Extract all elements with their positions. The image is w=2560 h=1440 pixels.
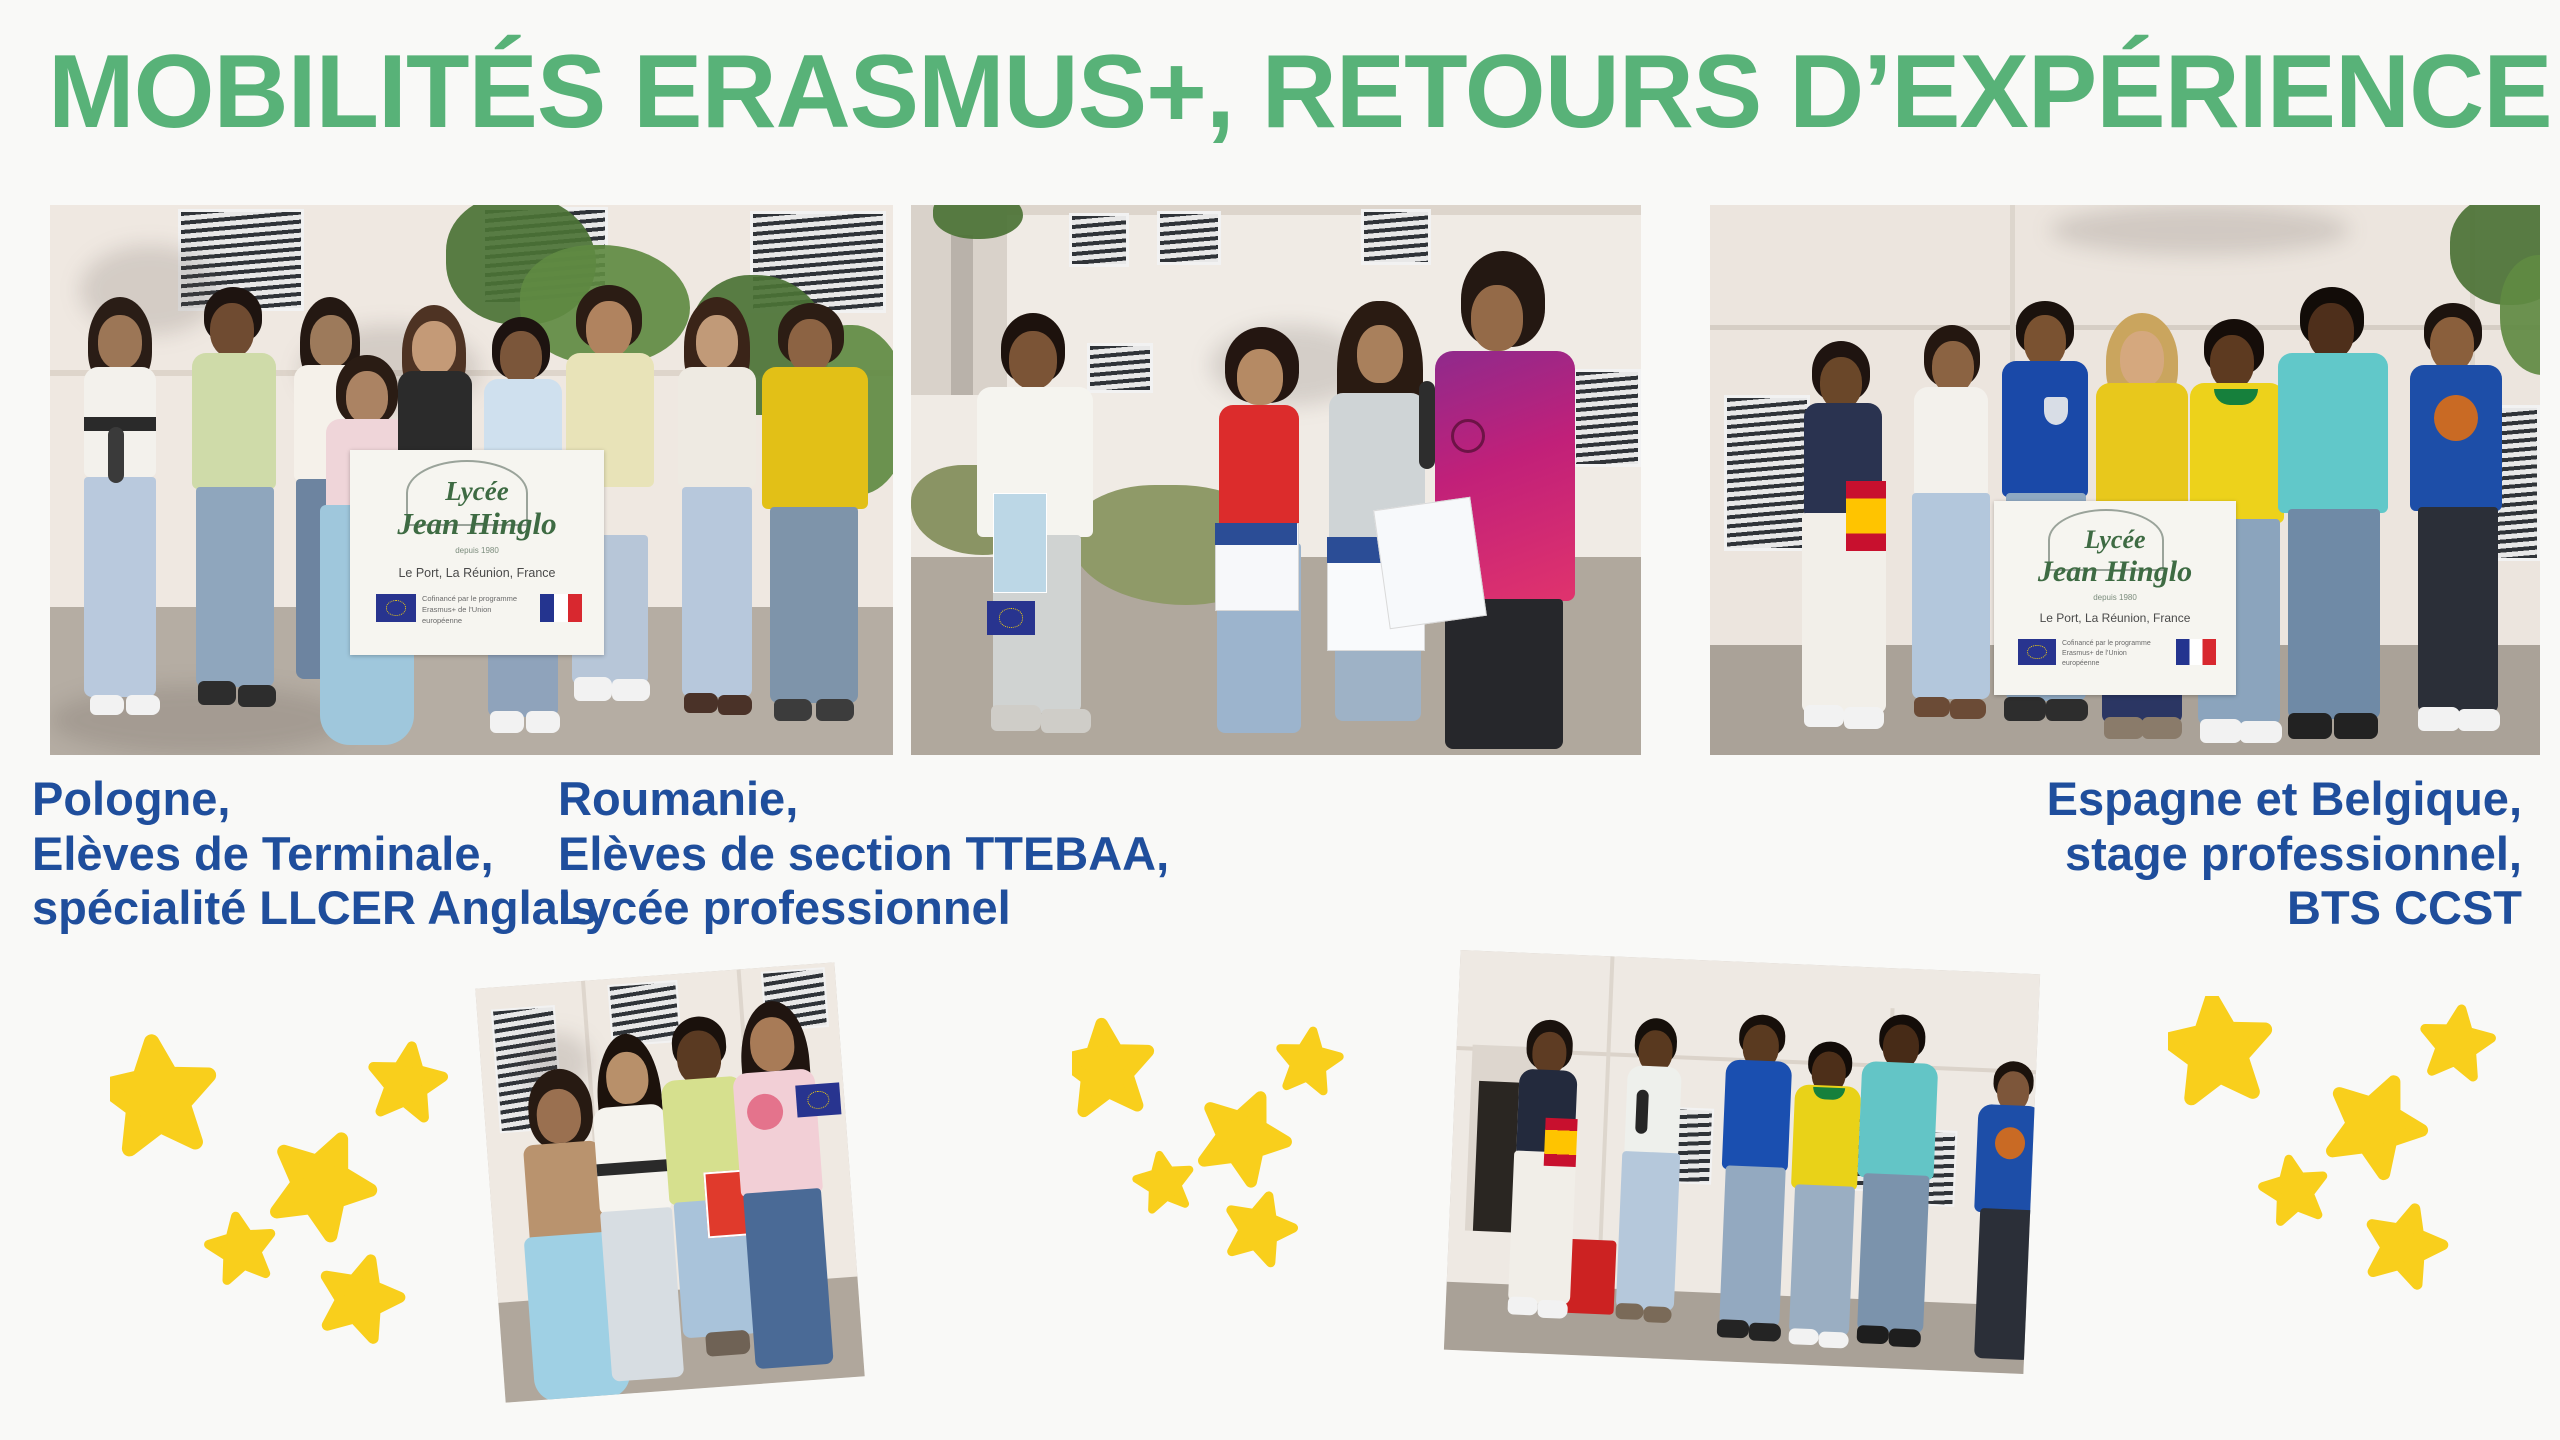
star-icon [313,1249,407,1342]
banner-funding: Cofinancé par le programme Erasmus+ de l… [422,594,532,627]
star-icon [1133,1150,1195,1211]
star-cluster-right [2168,996,2560,1356]
star-icon [2317,1064,2435,1181]
caption-espagne-belgique: Espagne et Belgique, stage professionnel… [2047,772,2522,936]
star-icon [2168,996,2271,1100]
star-icon-group-middle [1072,1010,1492,1370]
photo-pologne-group-banner: Lycée Jean Hinglo depuis 1980 Le Port, L… [50,205,893,755]
banner-line2: Jean Hinglo [350,506,604,542]
star-icon [1220,1187,1300,1266]
banner-lycee-jean-hinglo: Lycée Jean Hinglo depuis 1980 Le Port, L… [350,450,604,655]
star-icon [2419,1005,2494,1079]
photo-espagne-belgique-group: Lycée Jean Hinglo depuis 1980 Le Port, L… [1710,205,2540,755]
photo-pologne-quatre-eleves [475,962,864,1402]
caption-pologne: Pologne, Elèves de Terminale, spécialité… [32,772,597,936]
slide-canvas: MOBILITÉS ERASMUS+, RETOURS D’EXPÉRIENCE [0,0,2560,1440]
star-cluster-middle [1072,1010,1492,1370]
star-icon [1190,1080,1299,1188]
banner-funding: Cofinancé par le programme Erasmus+ de l… [2062,639,2166,669]
star-icon-group-left [110,995,530,1355]
star-icon [2360,1199,2451,1289]
page-title: MOBILITÉS ERASMUS+, RETOURS D’EXPÉRIENCE [48,38,2518,147]
star-icon [110,1036,215,1150]
banner-lycee-jean-hinglo-2: Lycée Jean Hinglo depuis 1980 Le Port, L… [1994,501,2236,695]
banner-line1: Lycée [350,476,604,507]
banner-line2: Jean Hinglo [1994,555,2236,589]
star-icon [205,1211,278,1283]
banner-location: Le Port, La Réunion, France [350,566,604,580]
star-icon [1072,1020,1153,1113]
photo-roumanie-presentation [911,205,1641,755]
star-icon-group-right [2168,996,2560,1356]
star-icon [2259,1154,2330,1224]
star-icon [367,1042,446,1120]
banner-since: depuis 1980 [1994,593,2236,602]
caption-roumanie: Roumanie, Elèves de section TTEBAA, Lycé… [558,772,1169,936]
banner-line1: Lycée [1994,525,2236,555]
star-icon [1276,1027,1343,1093]
banner-location: Le Port, La Réunion, France [1994,611,2236,625]
star-cluster-left [110,995,530,1355]
banner-since: depuis 1980 [350,546,604,555]
star-icon [261,1120,385,1243]
photo-espagne-belgique-micro [1444,950,2040,1374]
